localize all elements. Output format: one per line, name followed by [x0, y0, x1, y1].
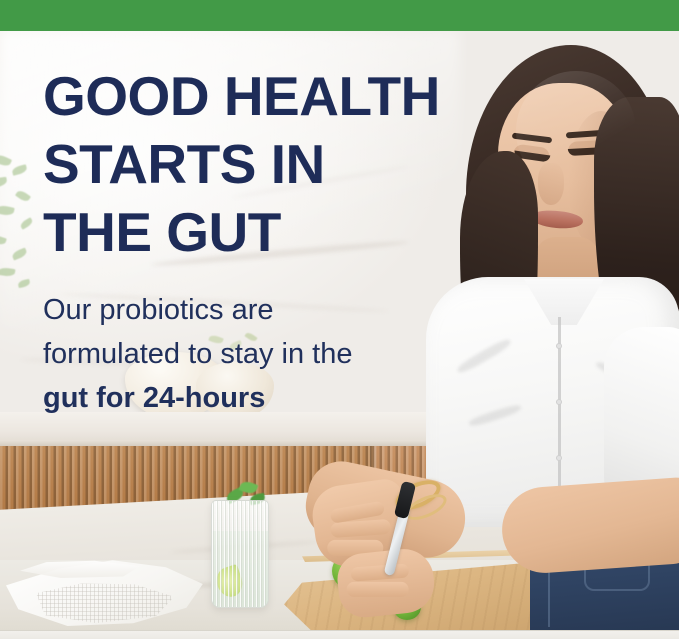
headline-line-3: THE GUT [43, 198, 463, 266]
headline-line-1: GOOD HEALTH [43, 62, 463, 130]
subheadline-line-3-emphasis: gut for 24-hours [43, 376, 463, 420]
probiotics-gut-health-banner: GOOD HEALTH STARTS IN THE GUT Our probio… [0, 0, 679, 639]
blouse-button [556, 343, 562, 349]
blouse-button [556, 455, 562, 461]
arm-right [499, 476, 679, 575]
hair-highlight [516, 71, 636, 191]
green-accent-bar [0, 0, 679, 31]
blouse-button [556, 399, 562, 405]
bottom-edge-strip [0, 630, 679, 639]
subheadline: Our probiotics are formulated to stay in… [43, 288, 463, 420]
subheadline-line-1: Our probiotics are [43, 288, 463, 332]
subheadline-line-2: formulated to stay in the [43, 332, 463, 376]
page-title: GOOD HEALTH STARTS IN THE GUT [43, 62, 463, 266]
headline-line-2: STARTS IN [43, 130, 463, 198]
text-overlay-column: GOOD HEALTH STARTS IN THE GUT Our probio… [0, 0, 460, 639]
